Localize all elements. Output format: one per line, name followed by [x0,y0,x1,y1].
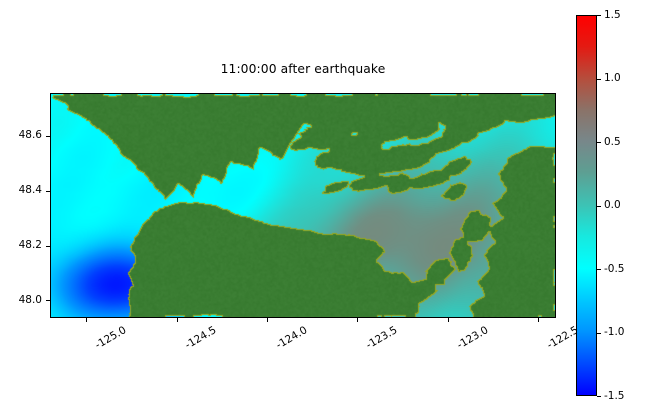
colorbar-tick-label-1.0: 1.0 [604,73,621,84]
colorbar-tick-mark--1.5 [597,396,601,397]
heatmap-image [51,94,555,317]
xtick-mark--122.5 [538,318,539,322]
map-axes[interactable] [50,93,556,318]
xtick-label--123.5: -123.5 [365,325,400,351]
colorbar-tick-label-0.0: 0.0 [604,200,621,211]
colorbar-tick-label-1.5: 1.5 [604,10,621,21]
xtick-label--123.0: -123.0 [455,325,490,351]
ytick-label-48.0: 48.0 [0,295,42,306]
ytick-label-48.2: 48.2 [0,240,42,251]
ytick-mark-48.0 [46,300,50,301]
xtick-mark--123.5 [357,318,358,322]
ytick-label-48.6: 48.6 [0,130,42,141]
colorbar-tick-mark-1.0 [597,79,601,80]
ytick-mark-48.2 [46,246,50,247]
colorbar-tick-label--1.5: -1.5 [604,391,625,402]
xtick-mark--125.0 [86,318,87,322]
colorbar-tick-label--0.5: -0.5 [604,264,625,275]
figure: 11:00:00 after earthquake 48.0 48.2 48.4… [0,0,649,411]
colorbar-tick-mark-0.0 [597,206,601,207]
xtick-label--124.0: -124.0 [274,325,309,351]
xtick-mark--124.5 [177,318,178,322]
xtick-label--124.5: -124.5 [184,325,219,351]
colorbar[interactable] [576,15,597,396]
colorbar-tick-mark-0.5 [597,142,601,143]
colorbar-tick-label-0.5: 0.5 [604,137,621,148]
colorbar-tick-mark--1.0 [597,333,601,334]
xtick-mark--124.0 [267,318,268,322]
colorbar-tick-mark-1.5 [597,15,601,16]
colorbar-tick-mark--0.5 [597,269,601,270]
xtick-label--125.0: -125.0 [94,325,129,351]
page-title: 11:00:00 after earthquake [50,62,556,76]
colorbar-tick-label--1.0: -1.0 [604,327,625,338]
ytick-label-48.4: 48.4 [0,185,42,196]
xtick-mark--123.0 [448,318,449,322]
colorbar-gradient [576,15,597,396]
ytick-mark-48.6 [46,136,50,137]
ytick-mark-48.4 [46,191,50,192]
